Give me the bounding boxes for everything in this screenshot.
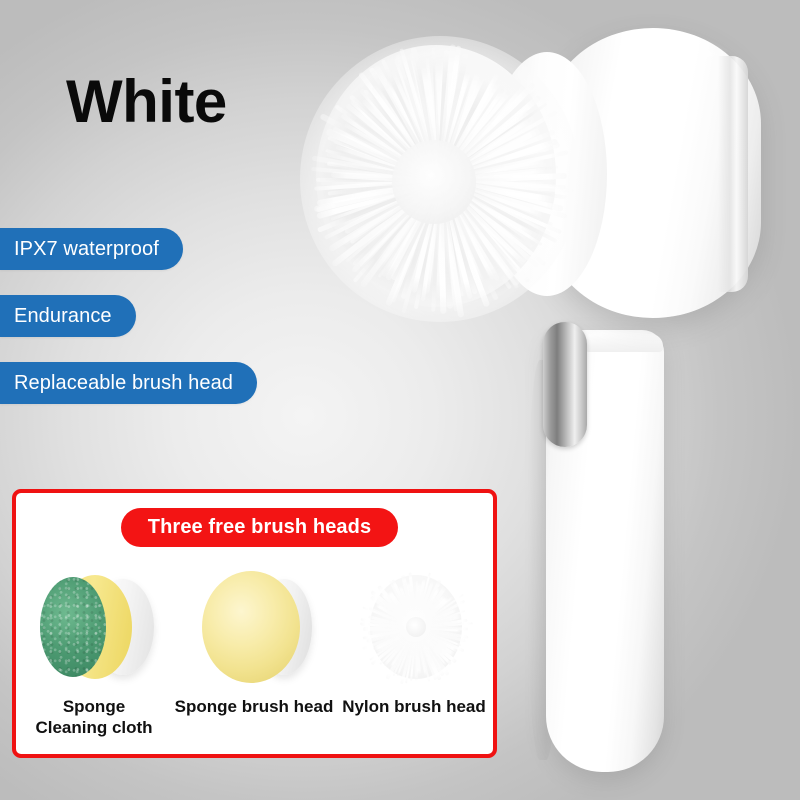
feature-badge-replaceable-brush-head[interactable]: Replaceable brush head (0, 362, 257, 404)
bristle (439, 178, 568, 219)
bristle (358, 72, 442, 182)
bristle (438, 45, 462, 181)
bristle (401, 180, 442, 314)
bristle (380, 179, 442, 277)
bristle (438, 179, 530, 283)
bristle (438, 108, 532, 184)
accessory-caption: Nylon brush head (334, 696, 494, 717)
bristle (311, 167, 440, 182)
bristle (439, 178, 553, 215)
bristle (314, 178, 440, 191)
feature-badge-list: IPX7 waterproof Endurance Replaceable br… (0, 228, 320, 429)
bristle (439, 178, 534, 237)
bristle (316, 178, 440, 182)
bristle (344, 123, 441, 182)
bristle (439, 141, 560, 183)
brush-head-hub (392, 140, 476, 224)
bristle (385, 180, 443, 281)
bristle (385, 180, 443, 307)
bristle (314, 178, 441, 212)
bristle (438, 76, 483, 180)
bristle (432, 180, 442, 312)
accessory-item-nylon-brush-head[interactable]: Nylon brush head (334, 565, 494, 739)
bristle (327, 152, 441, 182)
bristle (438, 84, 529, 184)
bristle (328, 178, 440, 196)
accessories-title-badge: Three free brush heads (121, 508, 398, 547)
accessory-caption-line1: Sponge brush head (174, 696, 334, 717)
bristle (381, 59, 442, 181)
bristle (438, 73, 474, 180)
accessories-title-label: Three free brush heads (148, 516, 371, 539)
bristle (409, 53, 441, 180)
bristle (426, 58, 442, 180)
bristle (361, 99, 441, 182)
bristle (412, 180, 443, 293)
accessory-caption: Sponge Cleaning cloth (14, 696, 174, 739)
bristle (440, 178, 555, 202)
accessories-list: Sponge Cleaning cloth Sponge brush head … (14, 565, 494, 739)
power-button-chrome (543, 322, 587, 447)
bristle (439, 178, 558, 243)
bristle (439, 178, 543, 246)
bristle (437, 181, 453, 309)
bristle (438, 79, 490, 182)
bristle (440, 173, 567, 184)
handle-shadow (528, 360, 558, 760)
bristle (438, 180, 473, 299)
bristle (399, 49, 442, 181)
bristle (439, 126, 545, 184)
bristle (319, 113, 441, 183)
feature-badge-label: Replaceable brush head (14, 372, 233, 395)
bristle (439, 178, 563, 212)
bristle (334, 104, 441, 181)
bristle (335, 145, 440, 182)
bristle (439, 178, 544, 216)
bristle (359, 179, 441, 268)
bristle (391, 180, 443, 281)
bristle (438, 71, 501, 181)
bristle (333, 140, 440, 181)
bristle (324, 178, 441, 240)
bristle (377, 179, 441, 278)
bristle (363, 89, 441, 181)
bristle (352, 179, 441, 283)
bristle (391, 179, 442, 303)
bristle (316, 178, 441, 213)
bristle (438, 61, 445, 180)
bristle (438, 179, 499, 301)
bristle (351, 179, 442, 274)
bristle (439, 88, 505, 181)
bristle (421, 66, 442, 180)
product-body-seam (718, 56, 748, 292)
bristle (350, 100, 442, 183)
bristle (439, 179, 527, 263)
feature-badge-label: IPX7 waterproof (14, 238, 159, 261)
product-body-highlight (596, 34, 732, 60)
bristle (438, 179, 495, 280)
accessory-caption-line1: Sponge (14, 696, 174, 717)
product-body (545, 28, 761, 318)
bristle (438, 179, 517, 271)
bristle (438, 179, 501, 282)
bristle (360, 89, 442, 182)
bristle (438, 179, 512, 290)
bristle (437, 50, 449, 181)
bristle (369, 67, 442, 182)
bristle (438, 180, 458, 311)
bristle (440, 167, 548, 182)
accessory-caption: Sponge brush head (174, 696, 334, 717)
bristle (440, 178, 548, 182)
brush-head-fuzz (300, 36, 580, 322)
bristle (396, 54, 443, 182)
bristle (437, 69, 472, 182)
bristle (439, 138, 558, 184)
bristle (439, 126, 537, 181)
bristle (393, 56, 442, 182)
bristle (438, 84, 505, 182)
bristle (334, 178, 441, 230)
bristle (312, 155, 440, 183)
bristle (401, 180, 443, 300)
bristle (321, 178, 440, 186)
product-image-canvas: White IPX7 waterproof Endurance Replacea… (0, 0, 800, 800)
bristle (439, 110, 558, 182)
bristle (351, 179, 441, 267)
bristle (439, 178, 562, 234)
brush-head-bristles (300, 28, 580, 328)
bristle (359, 179, 442, 288)
bristle (440, 178, 574, 194)
bristle (439, 140, 542, 182)
bristle (438, 94, 542, 183)
bristle (327, 162, 440, 182)
feature-badge-label: Endurance (14, 305, 112, 328)
bristle (437, 79, 500, 182)
bristle (440, 178, 568, 199)
bristle (440, 150, 569, 181)
bristle (343, 178, 442, 245)
bristle (438, 179, 463, 297)
bristle (440, 165, 559, 181)
bristle (349, 95, 442, 183)
accessory-item-sponge-brush-head[interactable]: Sponge brush head (174, 565, 334, 739)
yellow-sponge-pad (202, 571, 300, 683)
bristle (332, 126, 441, 182)
bristle (438, 117, 532, 183)
bristle (371, 84, 443, 183)
bristle (438, 87, 540, 182)
bristle (438, 179, 519, 289)
bristle (331, 172, 440, 184)
bristle (330, 178, 440, 221)
bristle (386, 80, 441, 180)
nylon-hub (406, 617, 426, 637)
bristle (438, 180, 478, 295)
bristle (340, 114, 441, 183)
bristle (435, 62, 443, 181)
bristle (392, 72, 442, 180)
bristle (375, 179, 443, 271)
bristle (410, 47, 443, 182)
bristle (437, 180, 464, 317)
bristle (438, 91, 511, 182)
bristle (325, 128, 441, 184)
product-handle (546, 330, 664, 772)
bristle (439, 178, 551, 236)
bristle (350, 178, 441, 244)
bristle (437, 181, 446, 314)
feature-badge-endurance[interactable]: Endurance (0, 295, 136, 337)
bristle (438, 179, 520, 286)
bristle (437, 180, 442, 298)
bristle (327, 135, 441, 182)
bristle (439, 178, 533, 248)
bristle (438, 179, 484, 284)
bristle (325, 149, 440, 181)
bristle (438, 82, 535, 183)
bristle (432, 48, 442, 180)
feature-badge-ipx7[interactable]: IPX7 waterproof (0, 228, 183, 270)
bristle (437, 69, 482, 182)
green-scrub-pad (40, 577, 106, 677)
bristle (424, 180, 442, 293)
bristle (317, 178, 441, 233)
brush-head-disc (316, 45, 556, 307)
bristle (345, 103, 442, 182)
bristle (439, 94, 514, 181)
bristle (344, 178, 441, 234)
bristle (437, 53, 469, 182)
bristle (437, 180, 490, 307)
bristle (439, 178, 547, 266)
bristle (440, 178, 566, 189)
bristle (317, 178, 441, 206)
bristle (438, 180, 468, 297)
bristle (316, 178, 440, 219)
handle-lip (585, 334, 663, 352)
accessory-caption-line2: Cleaning cloth (14, 717, 174, 738)
accessory-item-sponge-cleaning-cloth[interactable]: Sponge Cleaning cloth (14, 565, 174, 739)
bristle (439, 151, 546, 184)
bristle (421, 180, 442, 302)
bristle (438, 179, 539, 268)
sponge-brush-head-icon (174, 565, 334, 690)
bristle (438, 72, 468, 180)
bristle (437, 44, 456, 181)
bristle (439, 178, 553, 226)
bristle (439, 129, 556, 183)
bristle (439, 102, 548, 181)
sponge-cleaning-cloth-icon (14, 565, 174, 690)
bristle (331, 179, 442, 268)
bristle (414, 180, 443, 309)
bristle (438, 179, 526, 266)
nylon-brush-head-icon (334, 565, 494, 690)
bristle (329, 178, 442, 252)
bristle (345, 178, 441, 263)
bristle (373, 65, 442, 183)
color-name-title: White (66, 72, 227, 132)
accessory-caption-line1: Nylon brush head (334, 696, 494, 717)
product-collar (487, 52, 607, 296)
bristle (440, 159, 548, 182)
